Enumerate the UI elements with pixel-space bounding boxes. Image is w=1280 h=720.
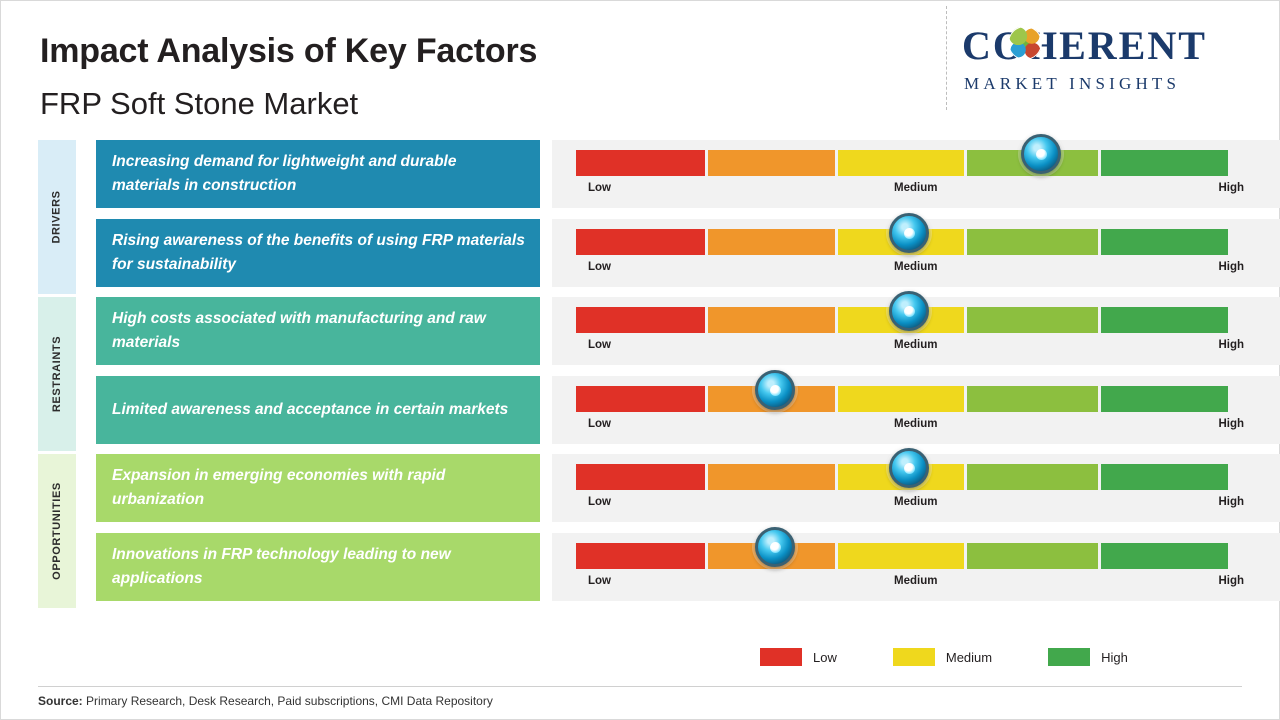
impact-marker-6[interactable] bbox=[755, 527, 795, 567]
impact-marker-2[interactable] bbox=[889, 213, 929, 253]
factor-text-6: Innovations in FRP technology leading to… bbox=[96, 533, 540, 601]
factor-text-5: Expansion in emerging economies with rap… bbox=[96, 454, 540, 522]
category-block-opportunities: OPPORTUNITIES bbox=[38, 454, 76, 608]
legend-swatch-low bbox=[760, 648, 802, 666]
footer-divider bbox=[38, 686, 1242, 687]
scale-row-1: Low Medium High bbox=[552, 140, 1280, 208]
source-text: Primary Research, Desk Research, Paid su… bbox=[83, 694, 493, 708]
tick-low: Low bbox=[588, 261, 611, 273]
scale-bar bbox=[576, 543, 1228, 569]
legend-item-low: Low bbox=[760, 648, 837, 666]
legend-item-medium: Medium bbox=[893, 648, 992, 666]
tick-high: High bbox=[1218, 496, 1244, 508]
scale-segment-low bbox=[576, 543, 705, 569]
globe-icon bbox=[1008, 26, 1042, 60]
logo-wordmark: COHERENT bbox=[962, 22, 1262, 69]
scale-bar bbox=[576, 150, 1228, 176]
scale-segment-medium bbox=[838, 543, 964, 569]
logo-tagline: MARKET INSIGHTS bbox=[964, 74, 1264, 94]
scale-row-6: Low Medium High bbox=[552, 533, 1280, 601]
category-label: DRIVERS bbox=[51, 190, 63, 243]
impact-marker-4[interactable] bbox=[755, 370, 795, 410]
category-label: OPPORTUNITIES bbox=[51, 482, 63, 580]
scale-ticks: Low Medium High bbox=[576, 339, 1256, 357]
tick-medium: Medium bbox=[894, 418, 937, 430]
category-block-drivers: DRIVERS bbox=[38, 140, 76, 294]
page-title: Impact Analysis of Key Factors bbox=[40, 32, 537, 71]
tick-high: High bbox=[1218, 182, 1244, 194]
logo-divider bbox=[946, 6, 948, 110]
legend-label-medium: Medium bbox=[946, 650, 992, 665]
impact-matrix: DRIVERS RESTRAINTS OPPORTUNITIES Increas… bbox=[38, 140, 1248, 610]
impact-marker-5[interactable] bbox=[889, 448, 929, 488]
impact-marker-1[interactable] bbox=[1021, 134, 1061, 174]
tick-low: Low bbox=[588, 496, 611, 508]
tick-medium: Medium bbox=[894, 261, 937, 273]
scale-bar bbox=[576, 386, 1228, 412]
category-label: RESTRAINTS bbox=[51, 336, 63, 412]
scale-segment-lowmed bbox=[708, 150, 834, 176]
scale-ticks: Low Medium High bbox=[576, 418, 1256, 436]
tick-medium: Medium bbox=[894, 339, 937, 351]
company-logo: COHERENT MARKET INSIGHTS bbox=[962, 22, 1262, 104]
scale-segment-medhigh bbox=[967, 464, 1097, 490]
scale-segment-medhigh bbox=[967, 307, 1097, 333]
scale-ticks: Low Medium High bbox=[576, 261, 1256, 279]
scale-segment-high bbox=[1101, 150, 1228, 176]
tick-high: High bbox=[1218, 261, 1244, 273]
legend-swatch-medium bbox=[893, 648, 935, 666]
scale-segment-medhigh bbox=[967, 229, 1097, 255]
scale-row-3: Low Medium High bbox=[552, 297, 1280, 365]
page-subtitle: FRP Soft Stone Market bbox=[40, 86, 358, 122]
tick-high: High bbox=[1218, 418, 1244, 430]
factor-text-1: Increasing demand for lightweight and du… bbox=[96, 140, 540, 208]
scale-segment-low bbox=[576, 307, 705, 333]
scale-segment-high bbox=[1101, 386, 1228, 412]
scale-segment-low bbox=[576, 150, 705, 176]
scale-segment-medhigh bbox=[967, 543, 1097, 569]
legend: Low Medium High bbox=[760, 645, 1184, 669]
source-label: Source: bbox=[38, 694, 83, 708]
tick-medium: Medium bbox=[894, 496, 937, 508]
tick-low: Low bbox=[588, 339, 611, 351]
scale-segment-medium bbox=[838, 386, 964, 412]
scale-ticks: Low Medium High bbox=[576, 496, 1256, 514]
scale-segment-high bbox=[1101, 464, 1228, 490]
tick-low: Low bbox=[588, 575, 611, 587]
scale-segment-low bbox=[576, 386, 705, 412]
tick-low: Low bbox=[588, 182, 611, 194]
legend-swatch-high bbox=[1048, 648, 1090, 666]
tick-high: High bbox=[1218, 339, 1244, 351]
scale-row-4: Low Medium High bbox=[552, 376, 1280, 444]
source-note: Source: Primary Research, Desk Research,… bbox=[38, 694, 493, 708]
scale-segment-lowmed bbox=[708, 229, 834, 255]
scale-row-2: Low Medium High bbox=[552, 219, 1280, 287]
scale-segment-lowmed bbox=[708, 464, 834, 490]
scale-ticks: Low Medium High bbox=[576, 182, 1256, 200]
scale-segment-low bbox=[576, 229, 705, 255]
legend-label-low: Low bbox=[813, 650, 837, 665]
scale-segment-high bbox=[1101, 229, 1228, 255]
factor-text-4: Limited awareness and acceptance in cert… bbox=[96, 376, 540, 444]
impact-marker-3[interactable] bbox=[889, 291, 929, 331]
scale-segment-low bbox=[576, 464, 705, 490]
scale-row-5: Low Medium High bbox=[552, 454, 1280, 522]
tick-medium: Medium bbox=[894, 182, 937, 194]
tick-medium: Medium bbox=[894, 575, 937, 587]
legend-item-high: High bbox=[1048, 648, 1128, 666]
tick-low: Low bbox=[588, 418, 611, 430]
factor-text-3: High costs associated with manufacturing… bbox=[96, 297, 540, 365]
legend-label-high: High bbox=[1101, 650, 1128, 665]
factor-text-2: Rising awareness of the benefits of usin… bbox=[96, 219, 540, 287]
tick-high: High bbox=[1218, 575, 1244, 587]
scale-segment-medium bbox=[838, 150, 964, 176]
scale-segment-high bbox=[1101, 307, 1228, 333]
scale-segment-medhigh bbox=[967, 386, 1097, 412]
scale-segment-lowmed bbox=[708, 307, 834, 333]
category-block-restraints: RESTRAINTS bbox=[38, 297, 76, 451]
scale-ticks: Low Medium High bbox=[576, 575, 1256, 593]
scale-segment-high bbox=[1101, 543, 1228, 569]
